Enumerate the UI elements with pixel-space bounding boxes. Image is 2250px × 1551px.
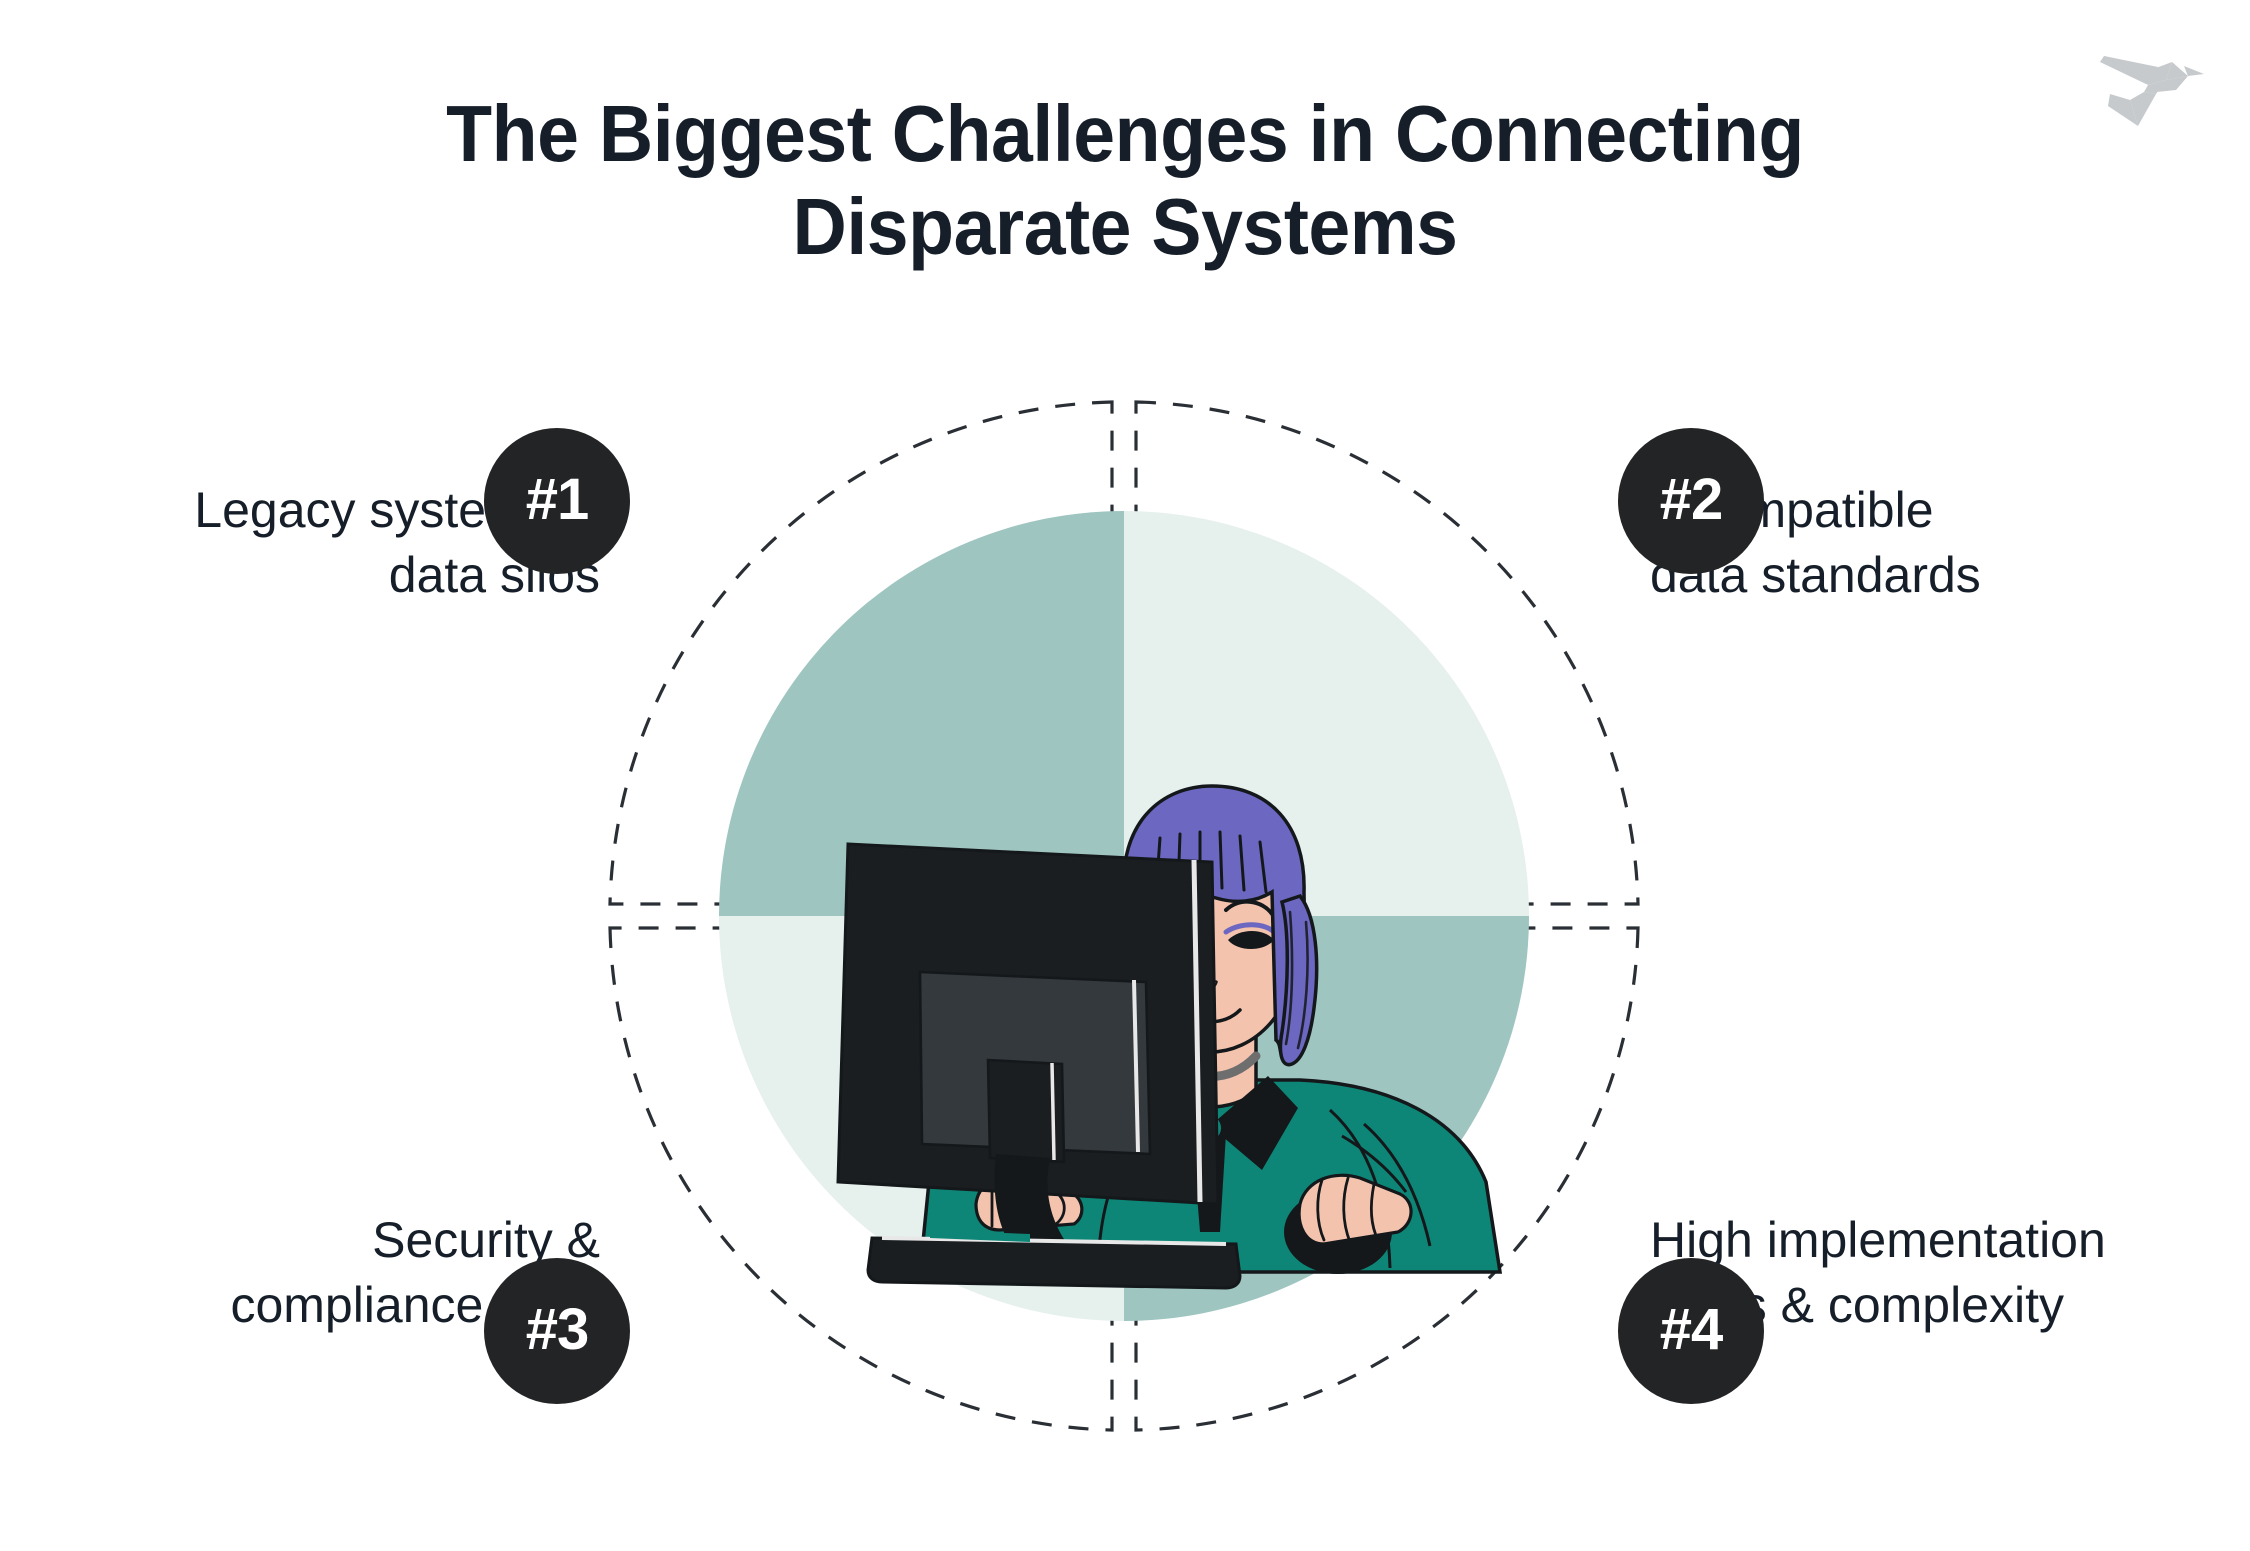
center-illustration (600, 392, 1648, 1440)
badge-1-label: #1 (526, 466, 589, 533)
woman-at-desktop-computer-icon (600, 392, 1648, 1440)
badge-4-label: #4 (1660, 1296, 1723, 1363)
badge-2-label: #2 (1660, 466, 1723, 533)
badge-1[interactable]: #1 (484, 428, 630, 574)
challenge-label-4-line-1: High implementation (1650, 1208, 2220, 1273)
page-title: The Biggest Challenges in Connecting Dis… (298, 88, 1952, 274)
infographic-page: The Biggest Challenges in Connecting Dis… (0, 0, 2250, 1551)
badge-4[interactable]: #4 (1618, 1258, 1764, 1404)
badge-3-label: #3 (526, 1296, 589, 1363)
badge-3[interactable]: #3 (484, 1258, 630, 1404)
quadrant-diagram: #1 #2 #3 #4 (600, 392, 1648, 1440)
page-title-wrap: The Biggest Challenges in Connecting Dis… (0, 88, 2250, 274)
badge-2[interactable]: #2 (1618, 428, 1764, 574)
